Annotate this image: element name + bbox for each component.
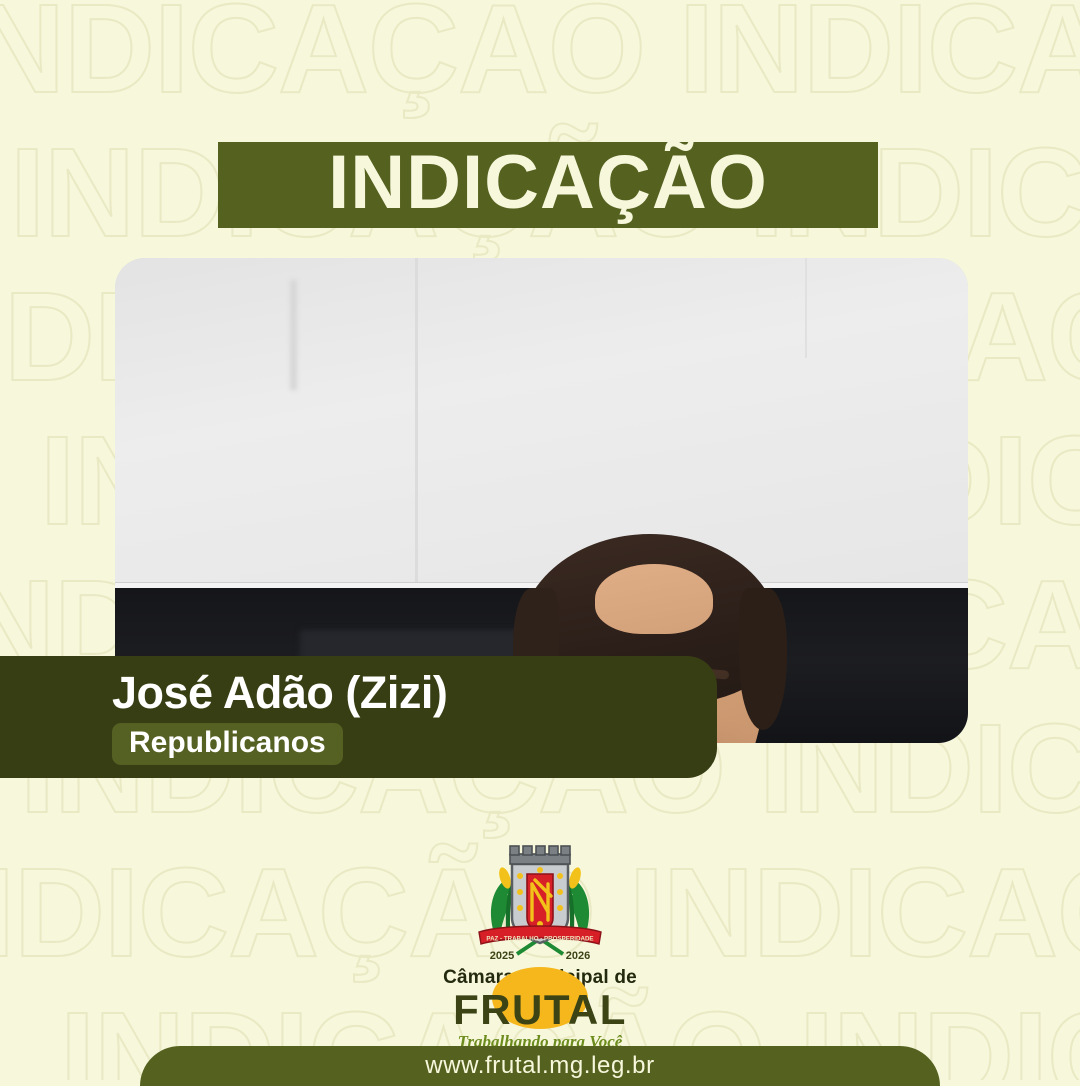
photo-forehead [595, 564, 713, 634]
photo-wall-line [415, 258, 418, 584]
institution-logo: PAZ - TRABALHO - PROSPERIDADE 2025 2026 … [0, 840, 1080, 1052]
logo-wordmark: Câmara Municipal de FRUTAL Trabalhando p… [443, 965, 637, 1052]
photo-wall [115, 258, 968, 588]
logo-line-frutal: FRUTAL [453, 989, 627, 1031]
photo-wall-line [805, 258, 807, 358]
member-name-bar: José Adão (Zizi) Republicanos [0, 656, 717, 778]
watermark-row: INDICAÇÃO INDICAÇÃO INDICAÇÃO [0, 0, 1080, 112]
photo-wall-shadow [290, 280, 297, 390]
website-url[interactable]: www.frutal.mg.leg.br [425, 1052, 654, 1080]
crest-year-left: 2025 [490, 950, 514, 962]
photo-hair-side-right [739, 588, 787, 730]
member-name: José Adão (Zizi) [112, 669, 717, 716]
crest-year-right: 2026 [566, 950, 590, 962]
coat-of-arms-icon: PAZ - TRABALHO - PROSPERIDADE 2025 2026 [465, 840, 615, 965]
member-party-badge: Republicanos [112, 723, 343, 766]
crest-motto: PAZ - TRABALHO - PROSPERIDADE [486, 936, 593, 943]
title-banner: INDICAÇÃO [218, 142, 878, 228]
footer-bar: www.frutal.mg.leg.br [140, 1046, 940, 1086]
page-title: INDICAÇÃO [328, 145, 768, 221]
